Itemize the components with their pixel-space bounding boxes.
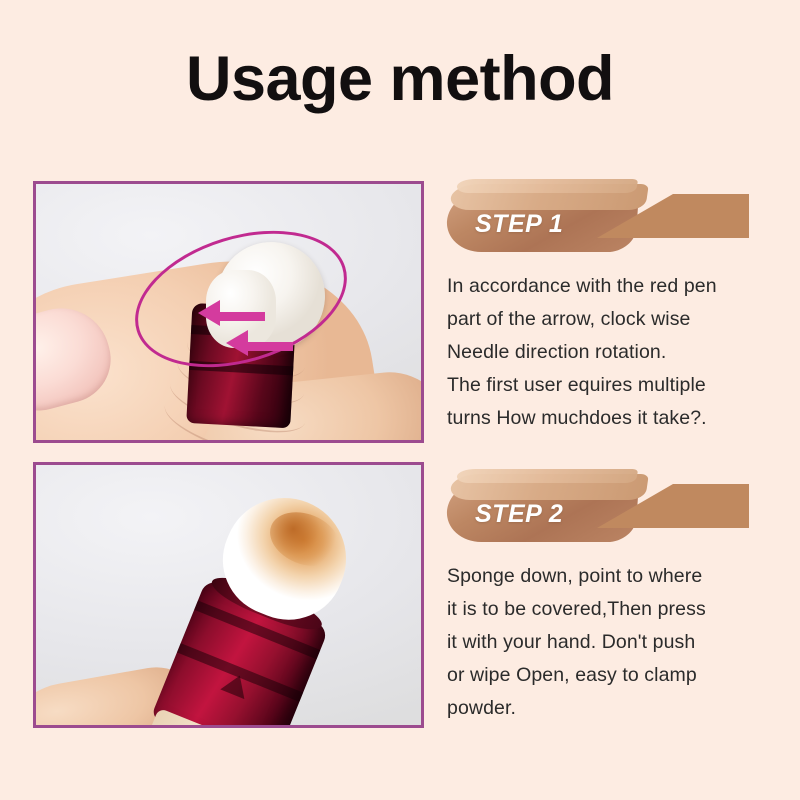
rotation-arrow-tail [247,342,293,351]
thumbnail-nail [36,297,120,420]
step-1-line: Needle direction rotation. [447,336,782,369]
step-1-line: The first user equires multiple [447,369,782,402]
step-2-block: STEP 2 Sponge down, point to where it is… [447,466,782,725]
step-2-line: it with your hand. Don't push [447,626,782,659]
step-2-label: STEP 2 [475,500,563,529]
rotation-arrow-icon [198,300,220,326]
step-1-label: STEP 1 [475,210,563,239]
photo-step-1-stage [36,184,421,440]
page-title: Usage method [0,48,800,111]
photo-step-1 [33,181,424,443]
rotation-arrow-tail [219,312,265,321]
step-1-swatch: STEP 1 [447,176,669,256]
step-1-block: STEP 1 In accordance with the red pen pa… [447,176,782,435]
step-2-line: Sponge down, point to where [447,560,782,593]
applicator-device-loaded [133,473,382,725]
step-2-line: it is to be covered,Then press [447,593,782,626]
photo-step-2-stage [36,465,421,725]
step-1-line: turns How muchdoes it take?. [447,402,782,435]
step-1-line: In accordance with the red pen [447,270,782,303]
step-2-text: Sponge down, point to where it is to be … [447,560,782,725]
step-1-text: In accordance with the red pen part of t… [447,270,782,435]
step-1-line: part of the arrow, clock wise [447,303,782,336]
swatch-ridge-highlight [456,179,638,193]
step-2-line: or wipe Open, easy to clamp [447,659,782,692]
photo-step-2 [33,462,424,728]
swatch-ridge-highlight [456,469,638,483]
powder-speckle [262,502,347,575]
step-2-line: powder. [447,692,782,725]
step-2-swatch: STEP 2 [447,466,669,546]
rotation-arrow-icon [226,330,248,356]
